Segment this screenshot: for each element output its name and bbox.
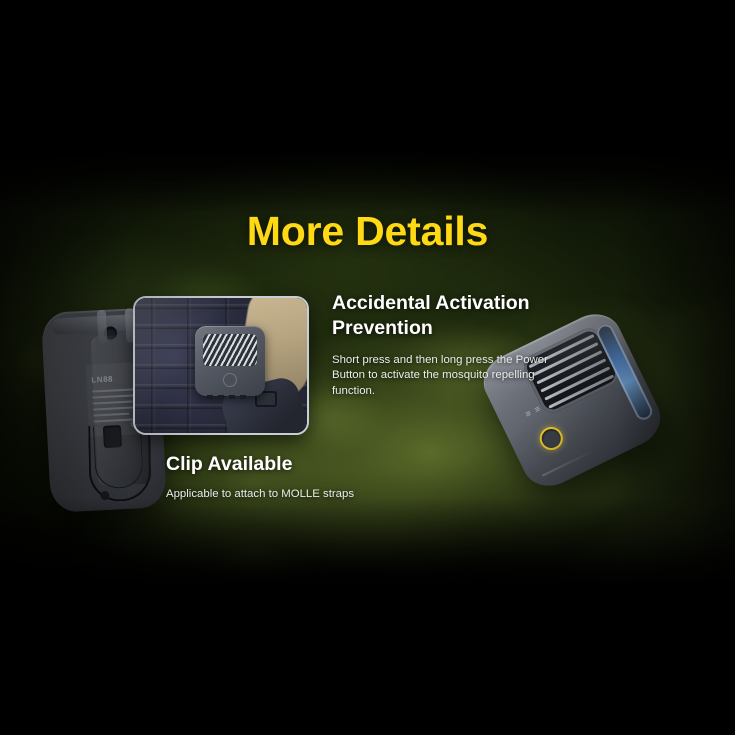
feature-block-accidental-activation: Accidental Activation Prevention Short p… xyxy=(332,291,564,399)
feature-body: Applicable to attach to MOLLE straps xyxy=(166,487,356,502)
screenshot-canvas: LN88 CE xyxy=(0,0,735,735)
feature-heading: Accidental Activation Prevention xyxy=(332,291,564,341)
feature-heading: Clip Available xyxy=(166,452,356,477)
feature-body: Short press and then long press the Powe… xyxy=(332,353,564,399)
feature-block-clip-available: Clip Available Applicable to attach to M… xyxy=(166,452,356,502)
more-details-banner: LN88 CE xyxy=(0,152,735,584)
page-title: More Details xyxy=(0,208,735,255)
